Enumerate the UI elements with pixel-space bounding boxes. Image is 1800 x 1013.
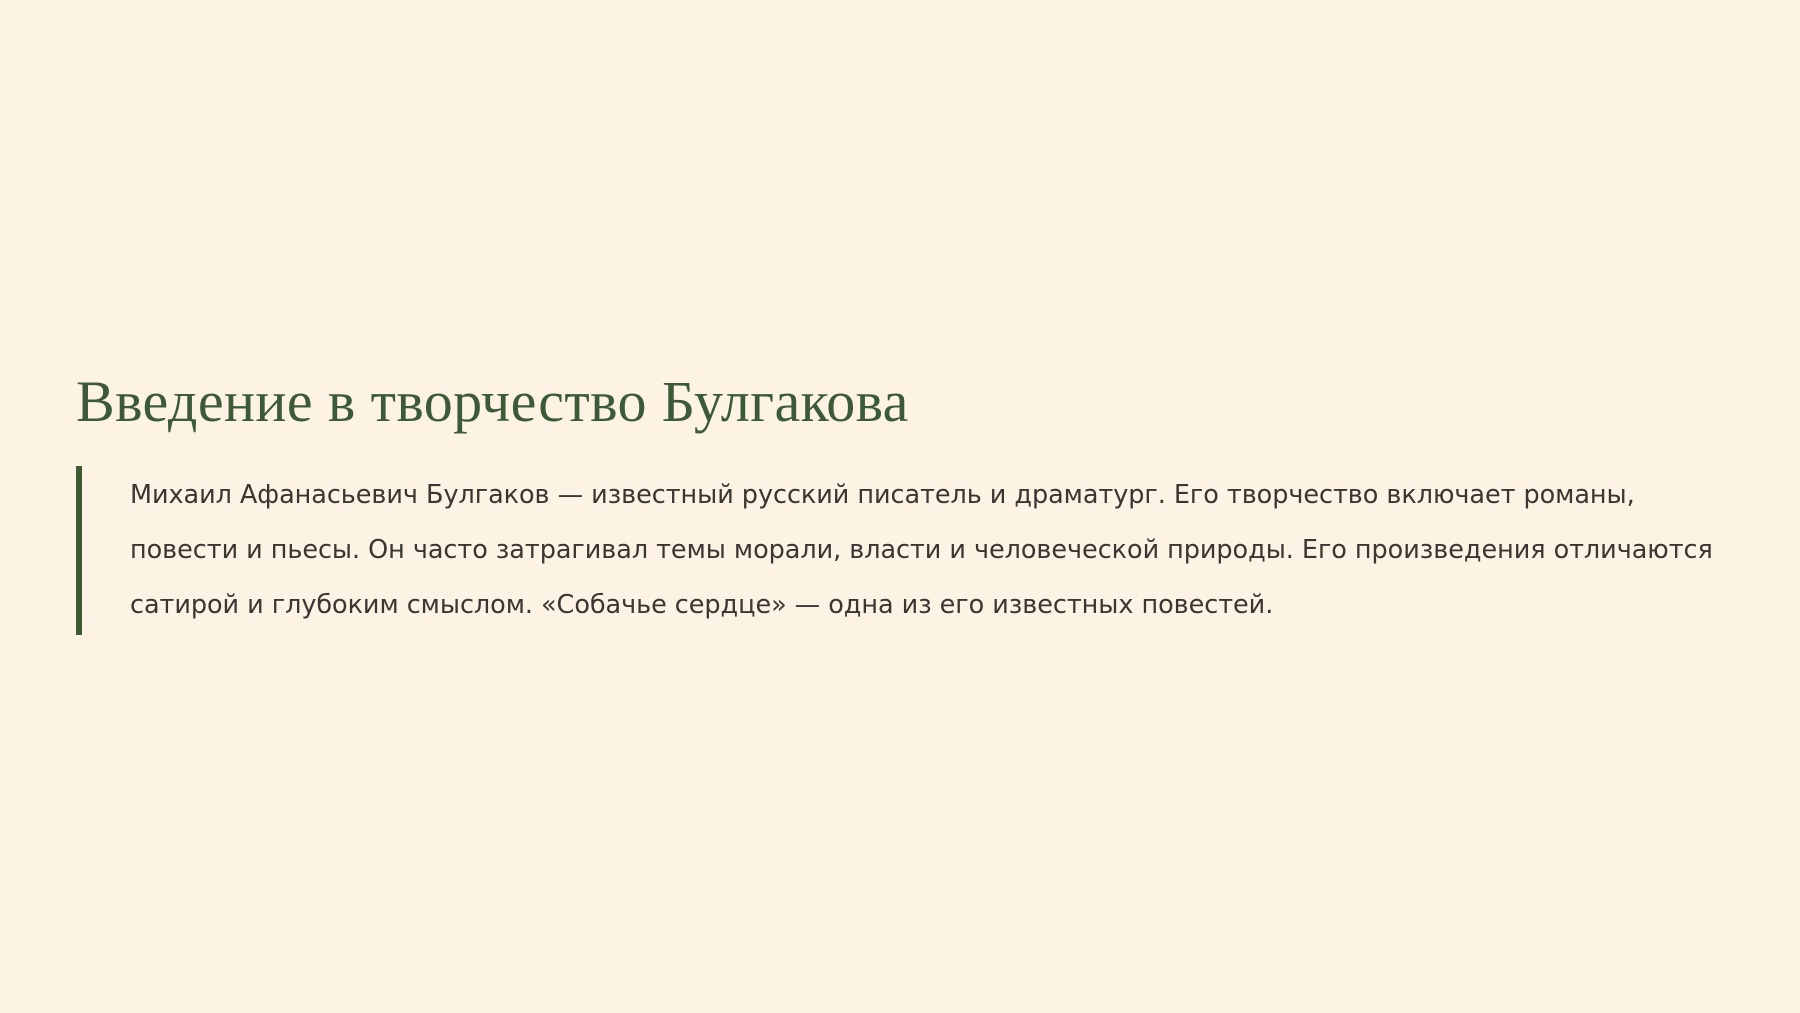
quote-paragraph: Михаил Афанасьевич Булгаков — известный … [130,468,1720,633]
callout-quote-block: Михаил Афанасьевич Булгаков — известный … [76,466,1736,635]
quote-body: Михаил Афанасьевич Булгаков — известный … [82,466,1736,635]
page-title: Введение в творчество Булгакова [76,368,1736,435]
article-content: Введение в творчество Булгакова Михаил А… [76,368,1736,635]
document-page: Введение в творчество Булгакова Михаил А… [0,0,1800,1013]
